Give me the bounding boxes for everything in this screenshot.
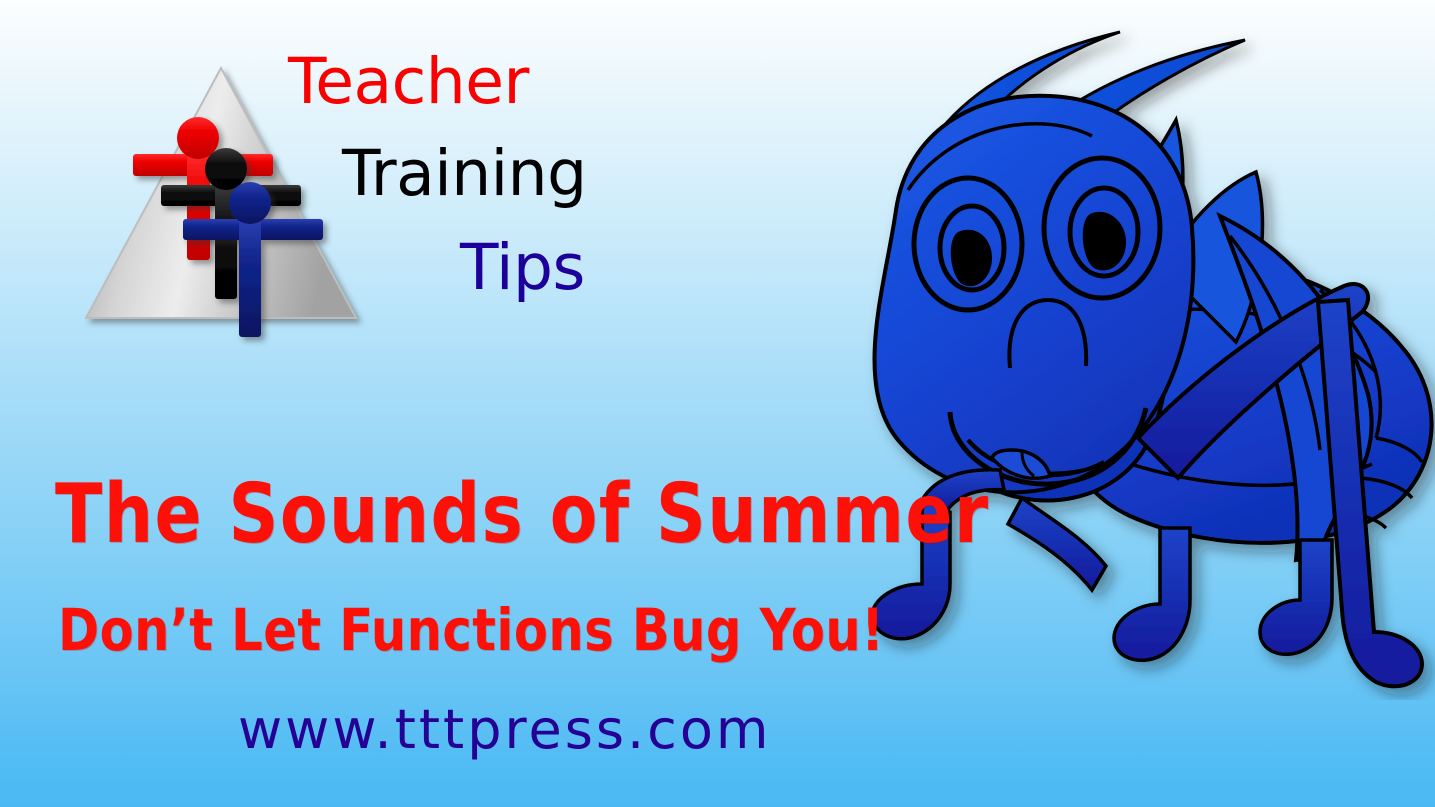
teeth <box>992 450 1050 478</box>
eye-left-icon <box>914 178 1022 310</box>
abdomen <box>1056 258 1432 543</box>
snout <box>1009 300 1086 368</box>
slide-canvas: Teacher Training Tips The Sounds of Summ… <box>0 0 1435 807</box>
antenna-right-icon <box>960 40 1245 248</box>
page-title: The Sounds of Summer <box>55 474 989 556</box>
thorax <box>933 230 1169 500</box>
antenna-left-icon <box>903 32 1120 258</box>
wing-spine-lower <box>1162 172 1262 342</box>
page-subtitle: Don’t Let Functions Bug You! <box>58 601 884 659</box>
mid-leg-3 <box>1260 540 1332 654</box>
head <box>875 96 1194 493</box>
brand-logo[interactable]: Teacher Training Tips <box>78 28 578 328</box>
front-leg <box>1008 498 1106 590</box>
hind-leg-femur <box>1138 284 1368 478</box>
hind-leg-tibia <box>1318 300 1422 686</box>
brand-wordmark: Teacher Training Tips <box>288 28 588 298</box>
wing-spine-upper <box>1104 120 1183 268</box>
eye-right-icon <box>1044 158 1160 298</box>
wordmark-line-teacher: Teacher <box>288 50 529 113</box>
mid-leg-2 <box>1114 528 1190 660</box>
hind-leg-far <box>1152 382 1314 443</box>
blue-cricket-illustration <box>700 0 1435 700</box>
website-url[interactable]: www.tttpress.com <box>238 703 772 757</box>
wordmark-line-tips: Tips <box>460 236 585 299</box>
wordmark-line-training: Training <box>342 142 587 205</box>
wing <box>1220 216 1372 560</box>
